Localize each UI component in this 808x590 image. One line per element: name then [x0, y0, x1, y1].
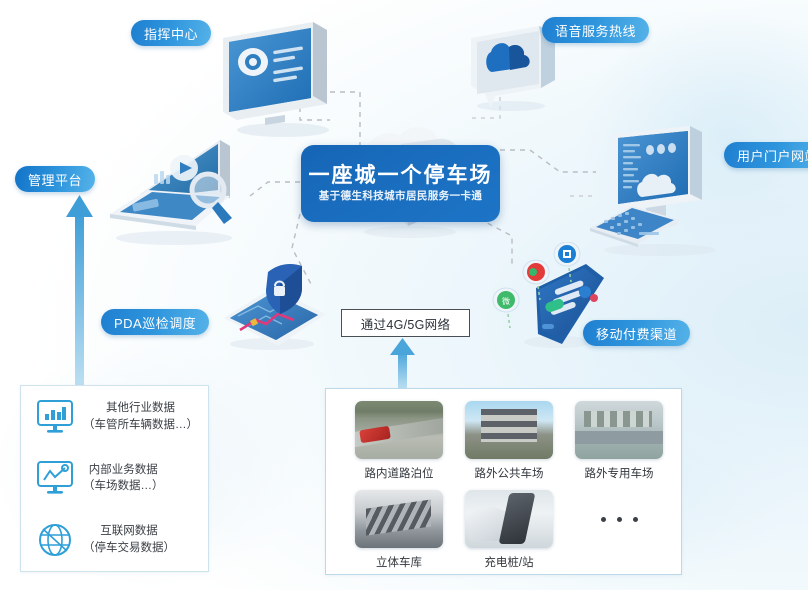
dot — [633, 517, 638, 522]
data-source-text: 内部业务数据 （车场数据…） — [83, 462, 164, 495]
label-voice-hotline[interactable]: 语音服务热线 — [542, 17, 649, 43]
network-callout-text: 通过4G/5G网络 — [361, 314, 451, 333]
label-pda-patrol-text: PDA巡检调度 — [114, 313, 196, 332]
label-voice-hotline-text: 语音服务热线 — [555, 21, 636, 40]
scenario-caption: 路内道路泊位 — [365, 465, 434, 481]
pda-patrol-tablet — [214, 258, 334, 354]
label-pda-patrol[interactable]: PDA巡检调度 — [101, 309, 209, 335]
ellipsis-dots-icon — [564, 490, 674, 548]
management-laptop — [96, 128, 248, 250]
label-user-portal-text: 用户门户网站 — [737, 146, 808, 165]
monitor-line-chart-icon — [33, 456, 77, 500]
hero-subtitle: 基于德生科技城市居民服务一卡通 — [319, 191, 483, 202]
data-sources-panel: 其他行业数据 （车管所车辆数据…） 内部业务数据 （车场数据…） — [20, 385, 209, 572]
data-source-text: 互联网数据 （停车交易数据） — [83, 523, 175, 556]
label-user-portal[interactable]: 用户门户网站 — [724, 142, 808, 168]
scenario-cell[interactable]: 路外专用车场 — [564, 401, 674, 490]
data-source-row[interactable]: 其他行业数据 （车管所车辆数据…） — [21, 386, 208, 448]
infographic-canvas: 微 — [0, 0, 808, 590]
scenario-cell[interactable]: 充电桩/站 — [454, 490, 564, 579]
monitor-bar-chart-icon — [33, 395, 77, 439]
parking-scenarios-panel: 路内道路泊位 路外公共车场 路外专用车场 立体车库 充电桩/站 — [325, 388, 682, 575]
data-source-title: 互联网数据 — [100, 523, 158, 540]
scenario-grid: 路内道路泊位 路外公共车场 路外专用车场 立体车库 充电桩/站 — [344, 401, 674, 579]
data-source-text: 其他行业数据 （车管所车辆数据…） — [83, 400, 198, 433]
scenario-caption: 路外公共车场 — [475, 465, 544, 481]
stacked-garage-photo — [355, 490, 443, 548]
dot — [601, 517, 606, 522]
label-management-platform[interactable]: 管理平台 — [15, 166, 95, 192]
globe-network-icon — [33, 518, 77, 562]
scenario-caption: 立体车库 — [376, 554, 422, 570]
svg-text:微: 微 — [502, 296, 510, 306]
user-portal-desktop — [584, 124, 734, 260]
label-mobile-payment[interactable]: 移动付费渠道 — [583, 320, 690, 346]
scenario-caption: 充电桩/站 — [484, 554, 533, 570]
public-off-street-lot-photo — [465, 401, 553, 459]
scenario-cell[interactable]: 路内道路泊位 — [344, 401, 454, 490]
hero-title: 一座城一个停车场 — [309, 165, 493, 186]
label-command-center-text: 指挥中心 — [144, 24, 198, 43]
data-flow-arrow-left — [65, 195, 95, 390]
data-flow-arrow-center — [390, 338, 416, 390]
scenario-cell[interactable]: 立体车库 — [344, 490, 454, 579]
scenario-cell[interactable]: 路外公共车场 — [454, 401, 564, 490]
data-source-detail: （车管所车辆数据…） — [83, 417, 198, 434]
data-source-detail: （停车交易数据） — [83, 540, 175, 557]
dot — [617, 517, 622, 522]
label-mobile-payment-text: 移动付费渠道 — [596, 324, 677, 343]
data-source-title: 内部业务数据 — [89, 462, 158, 479]
network-callout-box: 通过4G/5G网络 — [341, 309, 470, 337]
dedicated-off-street-lot-photo — [575, 401, 663, 459]
ev-charging-photo — [465, 490, 553, 548]
hero-badge: 一座城一个停车场 基于德生科技城市居民服务一卡通 — [301, 145, 500, 222]
data-source-title: 其他行业数据 — [106, 400, 175, 417]
label-command-center[interactable]: 指挥中心 — [131, 20, 211, 46]
on-street-parking-photo — [355, 401, 443, 459]
data-source-detail: （车场数据…） — [83, 478, 164, 495]
scenario-more — [564, 490, 674, 579]
label-management-platform-text: 管理平台 — [28, 170, 82, 189]
data-source-row[interactable]: 内部业务数据 （车场数据…） — [21, 448, 208, 510]
scenario-caption: 路外专用车场 — [585, 465, 654, 481]
data-source-row[interactable]: 互联网数据 （停车交易数据） — [21, 509, 208, 571]
